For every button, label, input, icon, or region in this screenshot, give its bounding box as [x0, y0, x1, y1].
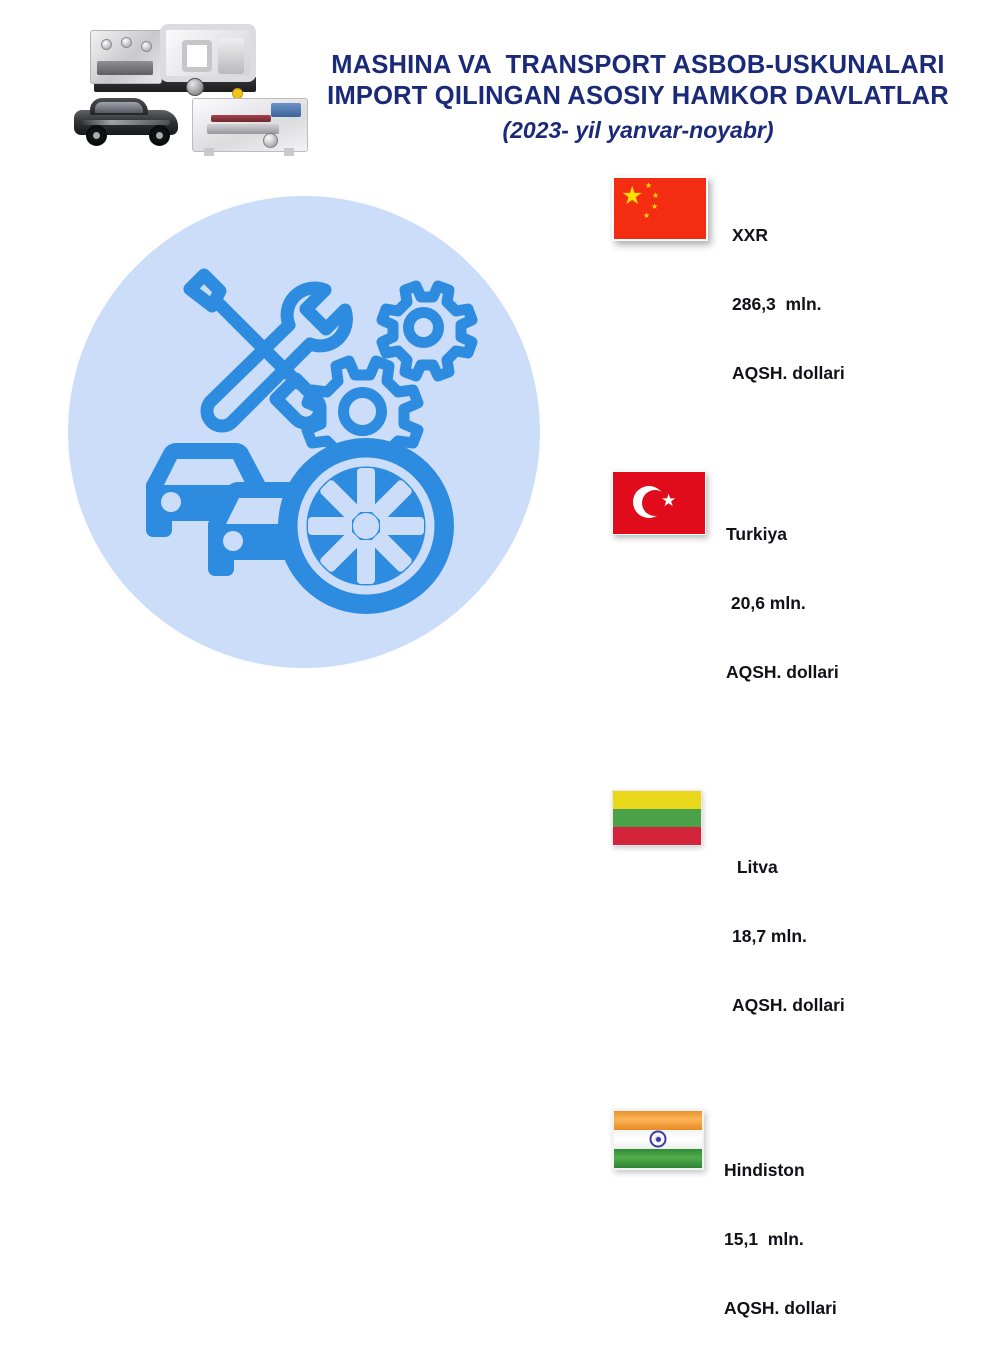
machine-arm [160, 24, 256, 82]
china-star-small-icon: ★ [643, 212, 650, 220]
page-subtitle: (2023- yil yanvar-noyabr) [288, 114, 988, 146]
country-value: 20,6 mln. [726, 592, 839, 615]
country-label-turkiya: Turkiya 20,6 mln. AQSH. dollari [726, 471, 839, 730]
title-line-1: MASHINA VA TRANSPORT ASBOB-USKUNALARI [288, 50, 988, 81]
country-unit: AQSH. dollari [724, 1297, 837, 1320]
china-star-small-icon: ★ [652, 192, 659, 200]
country-label-xxr: XXR 286,3 mln. AQSH. dollari [732, 176, 845, 431]
car-wheel-rear [86, 125, 107, 146]
machine-knob-icon [101, 39, 112, 50]
turkey-flag: ★ [612, 471, 706, 535]
country-row-litva: Litva 18,7 mln. AQSH. dollari [612, 790, 992, 1063]
photo-collage [62, 16, 312, 158]
machine2-roller [211, 115, 271, 122]
country-name: Hindiston [724, 1159, 837, 1182]
country-row-xxr: ★ ★ ★ ★ ★ XXR 286,3 mln. AQSH. dollari [612, 176, 992, 431]
title-line-2: IMPORT QILINGAN ASOSIY HAMKOR DAVLATLAR [288, 81, 988, 112]
china-flag: ★ ★ ★ ★ ★ [612, 176, 708, 241]
india-band-green [614, 1149, 702, 1168]
india-flag-wrap [612, 1109, 704, 1170]
lithuania-band-green [613, 809, 701, 827]
india-chakra-icon [650, 1131, 667, 1148]
country-list: ★ ★ ★ ★ ★ XXR 286,3 mln. AQSH. dollari ★… [612, 168, 992, 1212]
machine-left-body [90, 30, 162, 84]
country-row-turkiya: ★ Turkiya 20,6 mln. AQSH. dollari [612, 471, 992, 730]
illustration-circle [68, 196, 540, 668]
lithuania-band-yellow [613, 791, 701, 809]
country-name: Turkiya [726, 523, 839, 546]
china-star-small-icon: ★ [645, 182, 652, 190]
china-star-big-icon: ★ [621, 184, 643, 209]
wrench-screwdriver-icon [190, 275, 346, 426]
country-row-hindiston: Hindiston 15,1 mln. AQSH. dollari [612, 1109, 992, 1366]
country-unit: AQSH. dollari [732, 994, 845, 1017]
car-photo [74, 98, 178, 146]
lithuania-flag-wrap [612, 790, 702, 846]
country-label-litva: Litva 18,7 mln. AQSH. dollari [732, 790, 845, 1063]
china-star-small-icon: ★ [651, 203, 658, 211]
car-window [95, 102, 143, 113]
country-unit: AQSH. dollari [732, 362, 845, 385]
turkey-star-icon: ★ [661, 492, 676, 509]
india-band-saffron [614, 1111, 702, 1130]
country-label-hindiston: Hindiston 15,1 mln. AQSH. dollari [724, 1109, 837, 1366]
illustration-icon-group [68, 196, 540, 668]
machine2-dial-icon [263, 133, 278, 148]
china-flag-wrap: ★ ★ ★ ★ ★ [612, 176, 708, 241]
car-wheel-front [149, 125, 170, 146]
country-value: 18,7 mln. [732, 925, 845, 948]
lithuania-flag [612, 790, 702, 846]
turkey-flag-wrap: ★ [612, 471, 706, 535]
machine2-leg [204, 148, 214, 156]
country-name: Litva [732, 856, 845, 879]
lithuania-band-red [613, 827, 701, 845]
country-value: 286,3 mln. [732, 293, 845, 316]
page-title: MASHINA VA TRANSPORT ASBOB-USKUNALARI IM… [288, 50, 988, 146]
machine-knob-icon [141, 41, 152, 52]
machine-photo-top [82, 18, 267, 98]
machine2-leg [284, 148, 294, 156]
machine-knob-icon [121, 37, 132, 48]
india-flag [612, 1109, 704, 1170]
country-value: 15,1 mln. [724, 1228, 837, 1251]
india-band-white [614, 1130, 702, 1149]
country-unit: AQSH. dollari [726, 661, 839, 684]
country-name: XXR [732, 224, 845, 247]
tire-wheel-icon [278, 438, 454, 614]
